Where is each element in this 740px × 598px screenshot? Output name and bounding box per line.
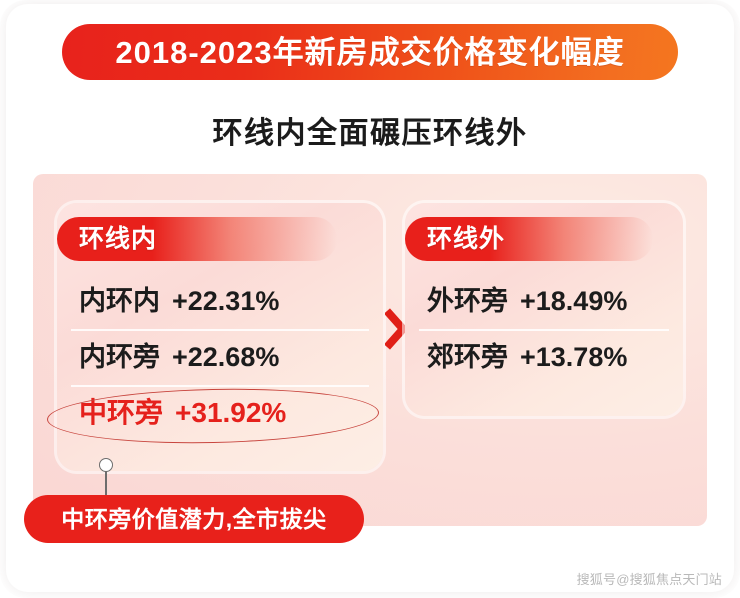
row-value: +18.49%	[520, 288, 627, 315]
banner-title: 2018-2023年新房成交价格变化幅度	[115, 37, 624, 68]
callout-connector-dot-icon	[99, 458, 113, 472]
infographic-page: 2018-2023年新房成交价格变化幅度 环线内全面碾压环线外 环线内 内环内 …	[0, 0, 740, 598]
row-label: 外环旁	[427, 288, 508, 315]
subtitle: 环线内全面碾压环线外	[0, 116, 740, 152]
callout-badge: 中环旁价值潜力,全市拔尖	[24, 495, 364, 543]
row-label: 内环旁	[79, 344, 160, 371]
panel-outer-ring: 环线外 外环旁 +18.49% 郊环旁 +13.78%	[405, 203, 683, 416]
outer-ring-rows: 外环旁 +18.49% 郊环旁 +13.78%	[405, 273, 683, 385]
row-label: 中环旁	[79, 399, 163, 427]
callout-text: 中环旁价值潜力,全市拔尖	[61, 508, 326, 531]
row-value: +22.68%	[172, 344, 279, 371]
row-label: 内环内	[79, 288, 160, 315]
panel-badge-inner-ring: 环线内	[57, 217, 337, 261]
panel-badge-label: 环线内	[79, 227, 157, 252]
row-label: 郊环旁	[427, 344, 508, 371]
panel-badge-label: 环线外	[427, 227, 505, 252]
panel-inner-ring: 环线内 内环内 +22.31% 内环旁 +22.68% 中环旁 +31.92%	[57, 203, 383, 471]
greater-than-icon	[385, 307, 405, 351]
watermark: 搜狐号@搜狐焦点天门站	[577, 569, 722, 588]
title-banner: 2018-2023年新房成交价格变化幅度	[62, 24, 678, 80]
row-value: +31.92%	[175, 399, 286, 427]
table-row: 郊环旁 +13.78%	[405, 329, 683, 385]
inner-ring-rows: 内环内 +22.31% 内环旁 +22.68% 中环旁 +31.92%	[57, 273, 383, 441]
table-row: 内环旁 +22.68%	[57, 329, 383, 385]
table-row-highlighted: 中环旁 +31.92%	[57, 385, 383, 441]
row-value: +13.78%	[520, 344, 627, 371]
panel-badge-outer-ring: 环线外	[405, 217, 653, 261]
table-row: 外环旁 +18.49%	[405, 273, 683, 329]
row-value: +22.31%	[172, 288, 279, 315]
table-row: 内环内 +22.31%	[57, 273, 383, 329]
comparison-container: 环线内 内环内 +22.31% 内环旁 +22.68% 中环旁 +31.92%	[33, 174, 707, 526]
